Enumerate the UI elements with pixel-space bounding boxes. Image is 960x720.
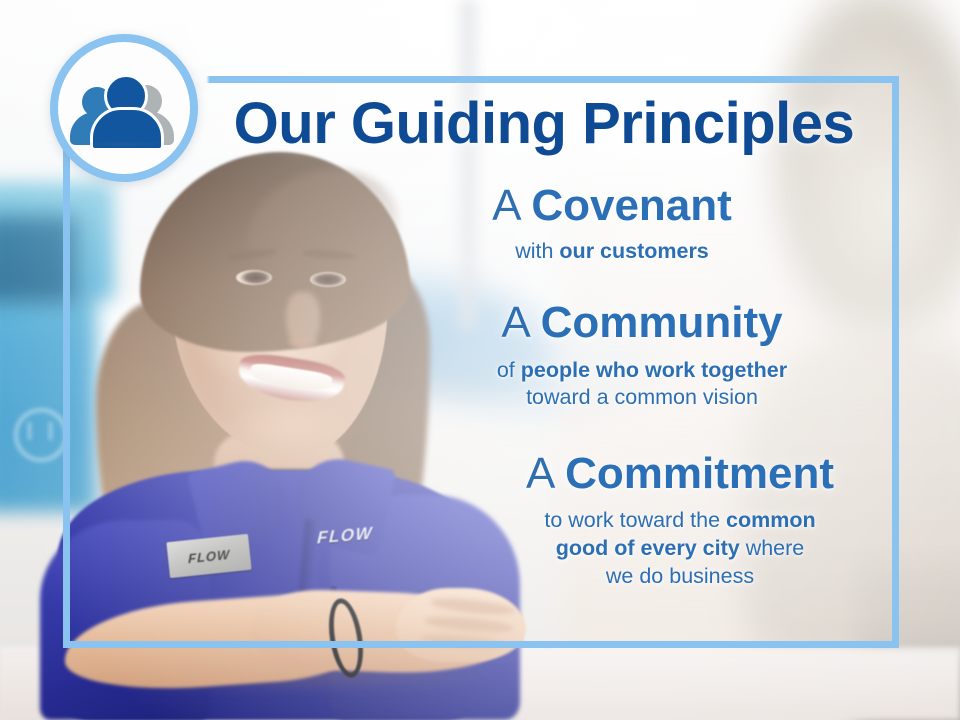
principle-community-article: A (501, 298, 528, 347)
people-group-icon (72, 73, 176, 143)
commitment-sub-plain-2: where (740, 536, 805, 560)
principle-community-title: A Community (384, 299, 900, 347)
name-badge-text: FLOW (188, 547, 230, 564)
community-sub-line-1: of people who work together (384, 357, 900, 385)
principle-commitment-subtitle: to work toward the common good of every … (460, 507, 900, 591)
commitment-sub-bold-2: good of every city (556, 536, 740, 560)
principle-commitment-word: Commitment (565, 449, 834, 498)
principle-community: A Community of people who work together … (384, 299, 900, 412)
covenant-sub-plain: with (515, 239, 559, 263)
community-sub-line-2: toward a common vision (384, 384, 900, 412)
principle-community-word: Community (541, 298, 783, 347)
principle-covenant-title: A Covenant (324, 182, 900, 230)
community-sub-bold: people who work together (521, 358, 787, 382)
covenant-sub-bold: our customers (559, 239, 708, 263)
community-sub-plain-1: of (497, 358, 521, 382)
people-badge (50, 34, 198, 182)
commitment-sub-plain-1: to work toward the (544, 508, 726, 532)
principle-covenant-article: A (492, 181, 519, 230)
commitment-sub-line-1: to work toward the common (460, 507, 900, 535)
principle-covenant-word: Covenant (531, 181, 731, 230)
principle-covenant-subtitle: with our customers (324, 238, 900, 266)
principle-community-subtitle: of people who work together toward a com… (384, 357, 900, 412)
principle-commitment-title: A Commitment (460, 450, 900, 498)
principle-commitment-article: A (526, 449, 553, 498)
principles-list: A Covenant with our customers A Communit… (300, 182, 900, 591)
poster-canvas: FLOW FLOW Our Guiding Principles (0, 0, 960, 720)
page-title: Our Guiding Principles (214, 94, 874, 153)
commitment-sub-line-3: we do business (460, 563, 900, 591)
people-icon-shadow (72, 141, 176, 147)
commitment-sub-bold-1: common (726, 508, 816, 532)
commitment-sub-line-2: good of every city where (460, 535, 900, 563)
employee-eye-left (236, 270, 272, 285)
principle-covenant: A Covenant with our customers (324, 182, 900, 265)
principle-commitment: A Commitment to work toward the common g… (460, 450, 900, 591)
